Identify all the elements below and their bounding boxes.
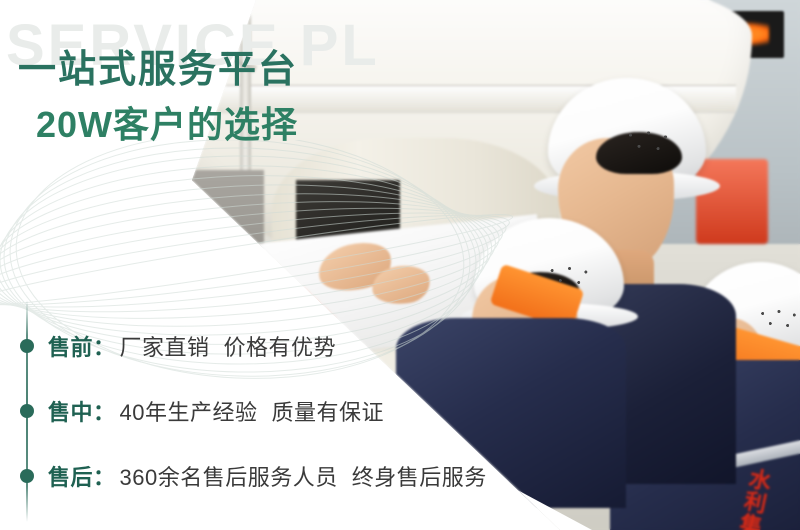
feature-body-b: 价格有优势 <box>224 335 337 360</box>
feature-body-b: 终身售后服务 <box>352 465 487 490</box>
bullet-dot-icon <box>20 339 34 353</box>
feature-body-b: 质量有保证 <box>272 400 385 425</box>
feature-text: 售前：厂家直销价格有优势 <box>48 330 336 362</box>
promo-banner: 水利 集团 <box>0 0 800 530</box>
list-item[interactable]: 售前：厂家直销价格有优势 <box>0 329 336 363</box>
bullet-dot-icon <box>20 469 34 483</box>
list-item[interactable]: 售后：360余名售后服务人员终身售后服务 <box>0 459 487 493</box>
feature-text: 售中：40年生产经验质量有保证 <box>48 395 384 427</box>
feature-body-a: 360余名售后服务人员 <box>120 465 338 490</box>
headline-primary: 一站式服务平台 <box>18 38 298 93</box>
helmet-vents-icon <box>543 265 594 290</box>
helmet-vents-icon <box>754 308 800 333</box>
list-item[interactable]: 售中：40年生产经验质量有保证 <box>0 394 384 428</box>
feature-label: 售前： <box>48 335 116 360</box>
bullet-dot-icon <box>20 404 34 418</box>
feature-label: 售后： <box>48 465 116 490</box>
photo-blue-drum <box>144 148 180 243</box>
headline-secondary: 20W客户的选择 <box>36 96 298 148</box>
feature-body-a: 40年生产经验 <box>120 400 258 425</box>
feature-label: 售中： <box>48 400 116 425</box>
helmet-vents-icon <box>621 129 675 157</box>
feature-body-a: 厂家直销 <box>120 335 210 360</box>
feature-text: 售后：360余名售后服务人员终身售后服务 <box>48 460 487 492</box>
